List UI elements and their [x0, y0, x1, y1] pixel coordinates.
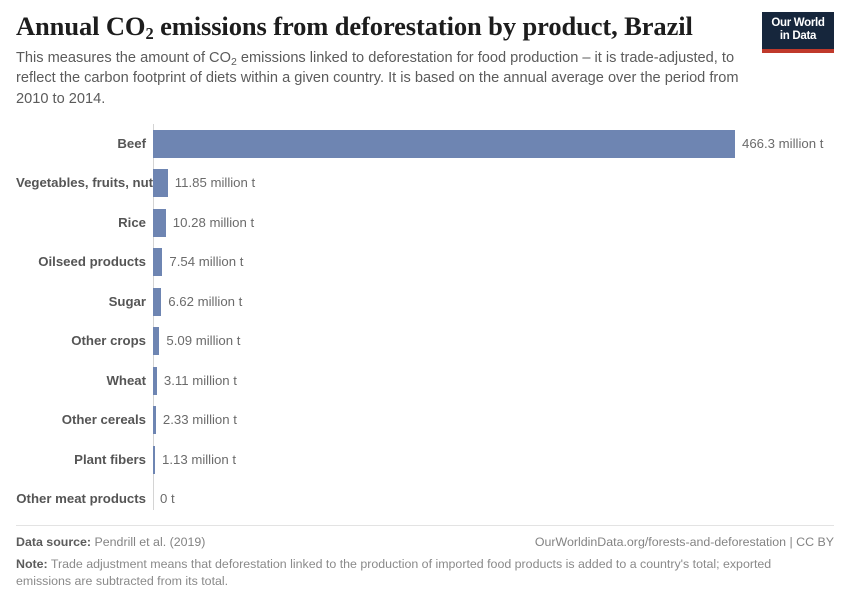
bar-category-label: Rice — [16, 216, 153, 229]
bar-track: 466.3 million t — [153, 124, 834, 164]
bar[interactable] — [153, 169, 168, 197]
title-text-prefix: Annual CO — [16, 11, 145, 41]
bar-row[interactable]: Oilseed products7.54 million t — [16, 242, 834, 282]
subtitle-subscript: 2 — [231, 56, 237, 68]
bar[interactable] — [153, 248, 162, 276]
bar-chart: Beef466.3 million tVegetables, fruits, n… — [16, 124, 834, 510]
page-title: Annual CO2 emissions from deforestation … — [16, 12, 756, 42]
bar-row[interactable]: Other meat products0 t — [16, 479, 834, 519]
chart-footer: Data source: Pendrill et al. (2019) OurW… — [16, 525, 834, 590]
footer-source-row: Data source: Pendrill et al. (2019) OurW… — [16, 535, 834, 549]
bar-track: 10.28 million t — [153, 203, 834, 243]
subtitle-text-part1: This measures the amount of CO — [16, 50, 231, 66]
bar[interactable] — [153, 288, 161, 316]
bar-value-label: 3.11 million t — [157, 374, 237, 387]
title-subscript: 2 — [145, 24, 153, 43]
bar-category-label: Other crops — [16, 334, 153, 347]
bar-category-label: Plant fibers — [16, 453, 153, 466]
bar-track: 7.54 million t — [153, 242, 834, 282]
bar-row[interactable]: Beef466.3 million t — [16, 124, 834, 164]
bar-track: 6.62 million t — [153, 282, 834, 322]
bar-value-label: 6.62 million t — [161, 295, 242, 308]
bar-row[interactable]: Wheat3.11 million t — [16, 361, 834, 401]
chart-header: Annual CO2 emissions from deforestation … — [16, 0, 834, 110]
bar-value-label: 1.13 million t — [155, 453, 236, 466]
bar-value-label: 7.54 million t — [162, 255, 243, 268]
bar-track: 11.85 million t — [153, 163, 834, 203]
footer-divider — [16, 525, 834, 526]
data-source-value: Pendrill et al. (2019) — [95, 535, 206, 549]
bar-category-label: Beef — [16, 137, 153, 150]
owid-url-link[interactable]: OurWorldinData.org/forests-and-deforesta… — [535, 535, 834, 549]
footer-note-text: Trade adjustment means that deforestatio… — [16, 557, 771, 588]
data-source-label: Data source: — [16, 535, 91, 549]
logo-line-1: Our World — [768, 17, 828, 30]
our-world-in-data-logo[interactable]: Our World in Data — [762, 12, 834, 53]
bar-category-label: Sugar — [16, 295, 153, 308]
bar-row[interactable]: Vegetables, fruits, nuts11.85 million t — [16, 163, 834, 203]
bar-category-label: Other cereals — [16, 413, 153, 426]
chart-page: Annual CO2 emissions from deforestation … — [0, 0, 850, 600]
bar-row[interactable]: Other cereals2.33 million t — [16, 400, 834, 440]
bar-row[interactable]: Plant fibers1.13 million t — [16, 440, 834, 480]
bar-track: 2.33 million t — [153, 400, 834, 440]
logo-line-2: in Data — [768, 30, 828, 43]
bar-track: 1.13 million t — [153, 440, 834, 480]
bar-value-label: 466.3 million t — [735, 137, 823, 150]
bar-row[interactable]: Sugar6.62 million t — [16, 282, 834, 322]
bar-value-label: 2.33 million t — [156, 413, 237, 426]
bar-category-label: Vegetables, fruits, nuts — [16, 176, 153, 189]
bar-track: 3.11 million t — [153, 361, 834, 401]
data-source: Data source: Pendrill et al. (2019) — [16, 535, 205, 549]
title-text-suffix: emissions from deforestation by product,… — [154, 11, 693, 41]
bar-track: 5.09 million t — [153, 321, 834, 361]
bar-category-label: Other meat products — [16, 492, 153, 505]
bar[interactable] — [153, 209, 166, 237]
bar[interactable] — [153, 130, 735, 158]
bar-value-label: 5.09 million t — [159, 334, 240, 347]
bar-category-label: Wheat — [16, 374, 153, 387]
bar-value-label: 0 t — [153, 492, 175, 505]
bar-track: 0 t — [153, 479, 834, 519]
bar-value-label: 10.28 million t — [166, 216, 254, 229]
footer-note-label: Note: — [16, 557, 48, 571]
bar-row[interactable]: Other crops5.09 million t — [16, 321, 834, 361]
footer-note: Note: Trade adjustment means that defore… — [16, 556, 828, 590]
bar-value-label: 11.85 million t — [168, 176, 255, 189]
bar-category-label: Oilseed products — [16, 255, 153, 268]
bar-row[interactable]: Rice10.28 million t — [16, 203, 834, 243]
chart-subtitle: This measures the amount of CO2 emission… — [16, 48, 761, 110]
